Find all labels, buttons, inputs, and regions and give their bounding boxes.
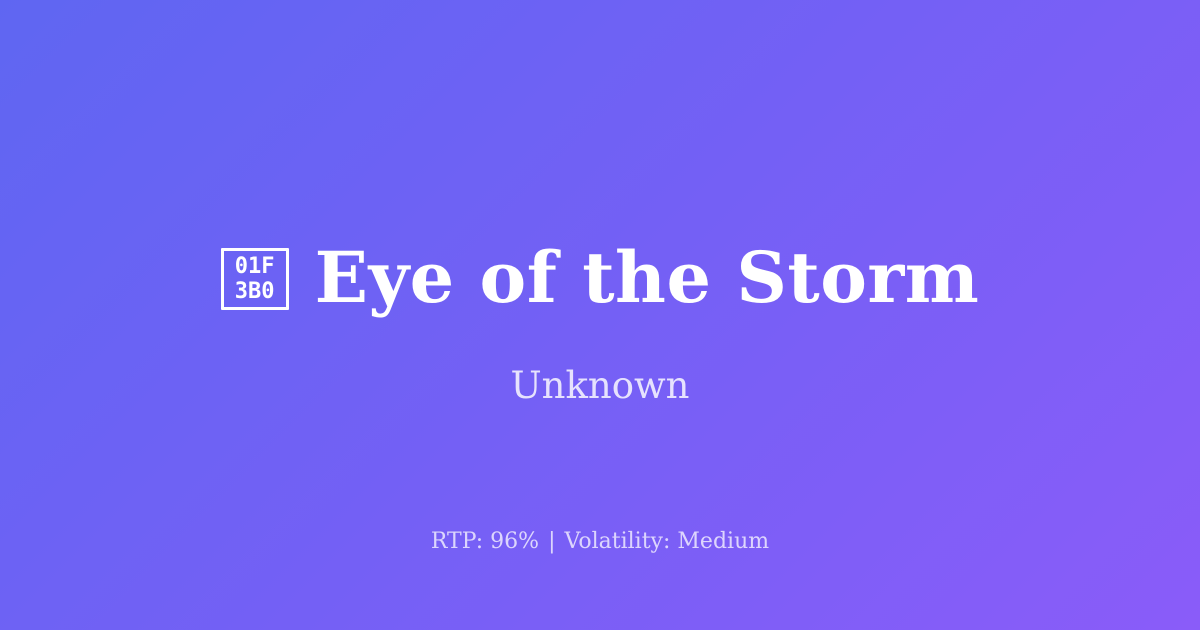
codepoint-top: 01F <box>235 254 275 279</box>
provider-name: Unknown <box>0 366 1200 407</box>
game-preview-card: 01F 3B0 Eye of the Storm Unknown RTP: 96… <box>0 0 1200 630</box>
slot-machine-emoji-icon: 01F 3B0 <box>221 248 289 310</box>
volatility-label: Volatility: <box>565 529 671 554</box>
rtp-value: 96% <box>490 529 539 554</box>
codepoint-bottom: 3B0 <box>235 279 275 304</box>
stats-separator: | <box>546 529 557 554</box>
title-row: 01F 3B0 Eye of the Storm <box>0 232 1200 324</box>
rtp-label: RTP: <box>431 529 483 554</box>
game-title: Eye of the Storm <box>315 243 980 313</box>
volatility-value: Medium <box>677 529 769 554</box>
game-stats: RTP: 96% | Volatility: Medium <box>0 529 1200 555</box>
